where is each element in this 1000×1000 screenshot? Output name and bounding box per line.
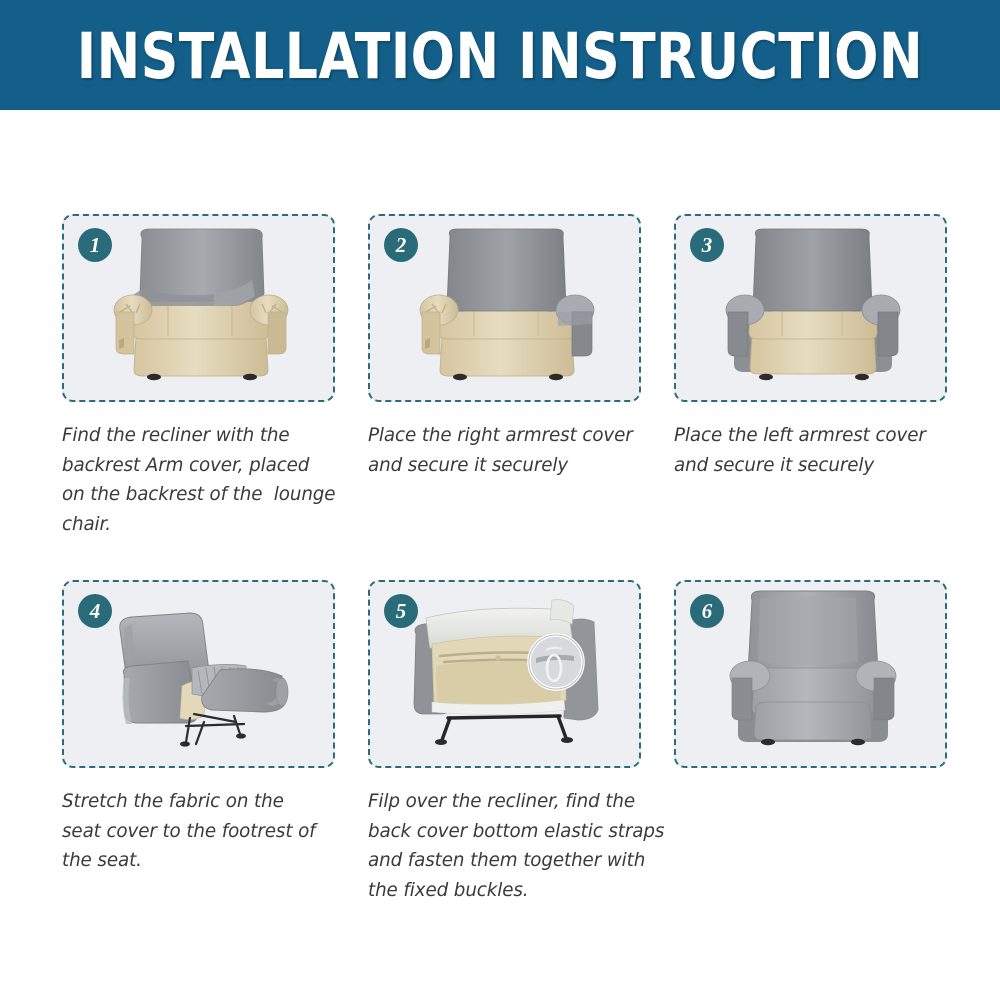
step-4-card: 4 [62,580,335,768]
instruction-page: INSTALLATION INSTRUCTION 1 [0,0,1000,1000]
step-3-card: 3 [674,214,947,402]
step-6-badge: 6 [690,594,724,628]
step-1-caption: Find the recliner with the backrest Arm … [62,421,354,540]
step-2-badge: 2 [384,228,418,262]
step-1-badge: 1 [78,228,112,262]
step-4-badge: 4 [78,594,112,628]
step-3-caption: Place the left armrest cover and secure … [674,421,966,480]
step-3: 3 [674,214,947,540]
step-3-badge: 3 [690,228,724,262]
step-5-badge: 5 [384,594,418,628]
step-1-card: 1 [62,214,335,402]
header-banner: INSTALLATION INSTRUCTION [0,0,1000,110]
step-4-caption: Stretch the fabric on the seat cover to … [62,787,354,876]
step-2: 2 [368,214,641,540]
step-2-caption: Place the right armrest cover and secure… [368,421,660,480]
step-6-card: 6 [674,580,947,768]
page-title: INSTALLATION INSTRUCTION [77,25,923,88]
step-5-caption: Filp over the recliner, find the back co… [368,787,668,906]
step-2-card: 2 [368,214,641,402]
step-4: 4 [62,580,335,906]
step-6: 6 [674,580,947,906]
step-1: 1 [62,214,335,540]
step-5: 5 [368,580,641,906]
steps-row-2: 4 [62,580,948,906]
steps-row-1: 1 [62,214,948,540]
step-5-card: 5 [368,580,641,768]
